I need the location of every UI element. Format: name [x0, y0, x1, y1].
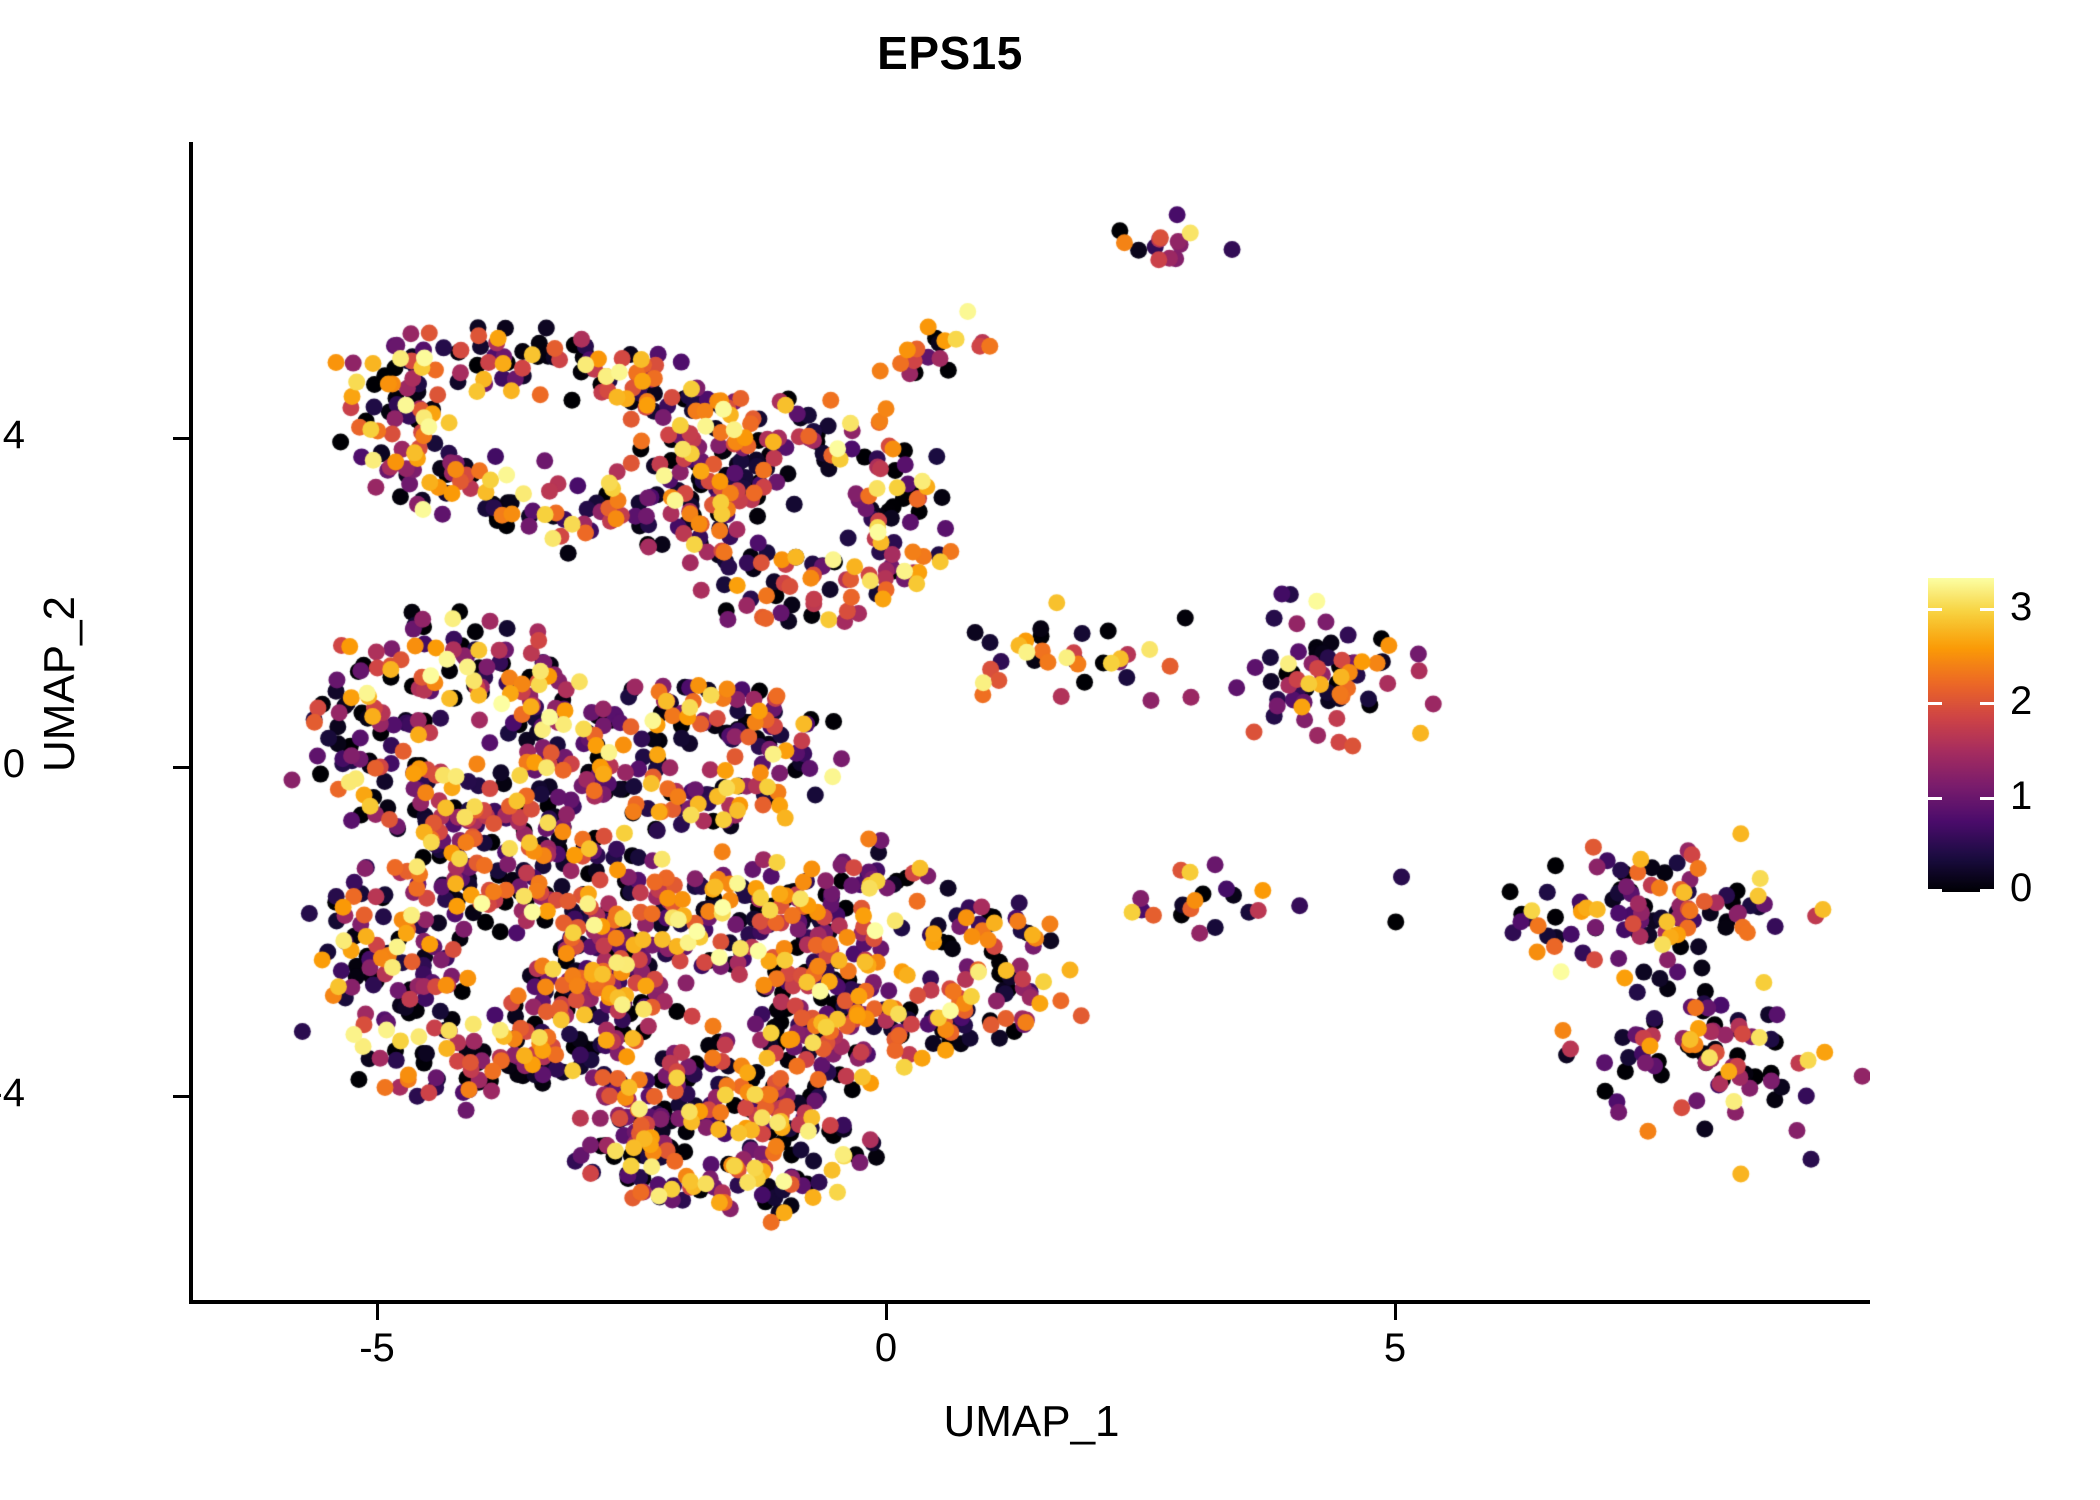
y-tick-mark-4 — [173, 437, 189, 440]
y-tick-mark-0 — [173, 766, 189, 769]
legend-label-3: 3 — [2010, 587, 2032, 627]
legend-tick-mark-2-right — [1980, 702, 1994, 705]
x-tick-mark-0 — [885, 1304, 888, 1320]
x-tick-mark-5 — [1394, 1304, 1397, 1320]
scatter-points-canvas — [193, 142, 1870, 1302]
x-tick-label-5: 5 — [1325, 1328, 1465, 1368]
x-axis-title: UMAP_1 — [193, 1400, 1870, 1444]
legend-tick-mark-1-right — [1980, 797, 1994, 800]
legend-tick-mark-0-right — [1980, 889, 1994, 892]
page-title: EPS15 — [0, 30, 1900, 76]
legend-tick-mark-2-left — [1928, 702, 1942, 705]
x-tick-mark-neg5 — [376, 1304, 379, 1320]
legend-tick-mark-3-left — [1928, 608, 1942, 611]
y-axis-title: UMAP_2 — [38, 364, 82, 1004]
legend-label-0: 0 — [2010, 868, 2032, 908]
y-tick-label-neg4: -4 — [0, 1073, 25, 1113]
x-tick-label-neg5: -5 — [307, 1328, 447, 1368]
legend-label-1: 1 — [2010, 776, 2032, 816]
legend-tick-mark-3-right — [1980, 608, 1994, 611]
legend-label-2: 2 — [2010, 681, 2032, 721]
legend-tick-mark-1-left — [1928, 797, 1942, 800]
plot-panel — [193, 142, 1870, 1302]
y-tick-label-4: 4 — [0, 415, 25, 455]
y-tick-label-0: 0 — [0, 744, 25, 784]
y-tick-mark-neg4 — [173, 1095, 189, 1098]
x-tick-label-0: 0 — [816, 1328, 956, 1368]
legend-tick-mark-0-left — [1928, 889, 1942, 892]
color-legend: 3 2 1 0 — [1928, 578, 2098, 893]
umap-feature-plot: EPS15 4 0 -4 -5 0 5 UMAP_1 UMAP_2 3 2 1 … — [0, 0, 2100, 1500]
colorbar-gradient — [1928, 578, 1994, 892]
y-axis-line — [189, 142, 193, 1304]
x-axis-line — [189, 1300, 1870, 1304]
